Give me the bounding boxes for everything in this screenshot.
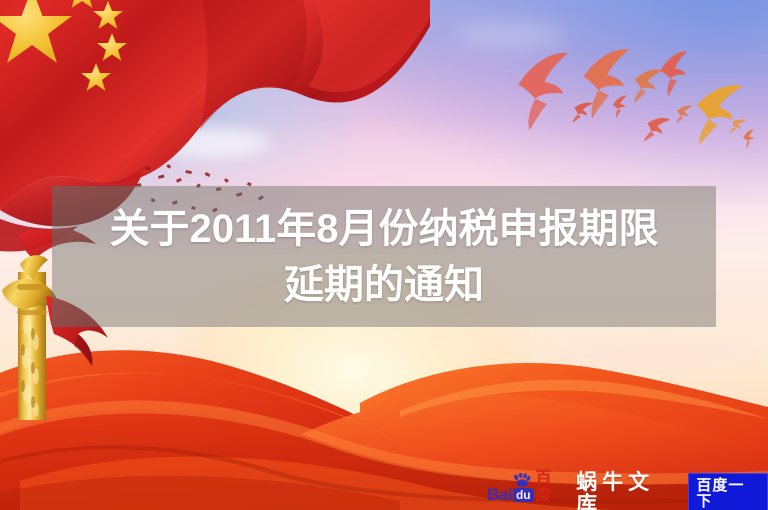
baidu-bai-text: Bai [487,486,512,503]
watermark-bar: Bai du 百度 蜗牛文库 百度一下 [487,479,768,507]
baidu-chinese-text: 百度 [536,469,567,503]
baidu-logo[interactable]: Bai du 百度 [487,483,567,503]
baidu-paw-icon [513,473,531,487]
baidu-du-text: du [513,488,534,502]
title-line-1: 关于2011年8月份纳税申报期限 [109,201,658,257]
title-overlay-panel: 关于2011年8月份纳税申报期限 延期的通知 [52,186,716,327]
banner-image: 关于2011年8月份纳税申报期限 延期的通知 Bai du 百度 蜗牛文库 百度… [0,0,768,510]
title-line-2: 延期的通知 [284,257,484,313]
site-brand-text: 蜗牛文库 [576,471,679,510]
flying-birds-flock [490,45,768,165]
baidu-search-button[interactable]: 百度一下 [688,473,768,510]
